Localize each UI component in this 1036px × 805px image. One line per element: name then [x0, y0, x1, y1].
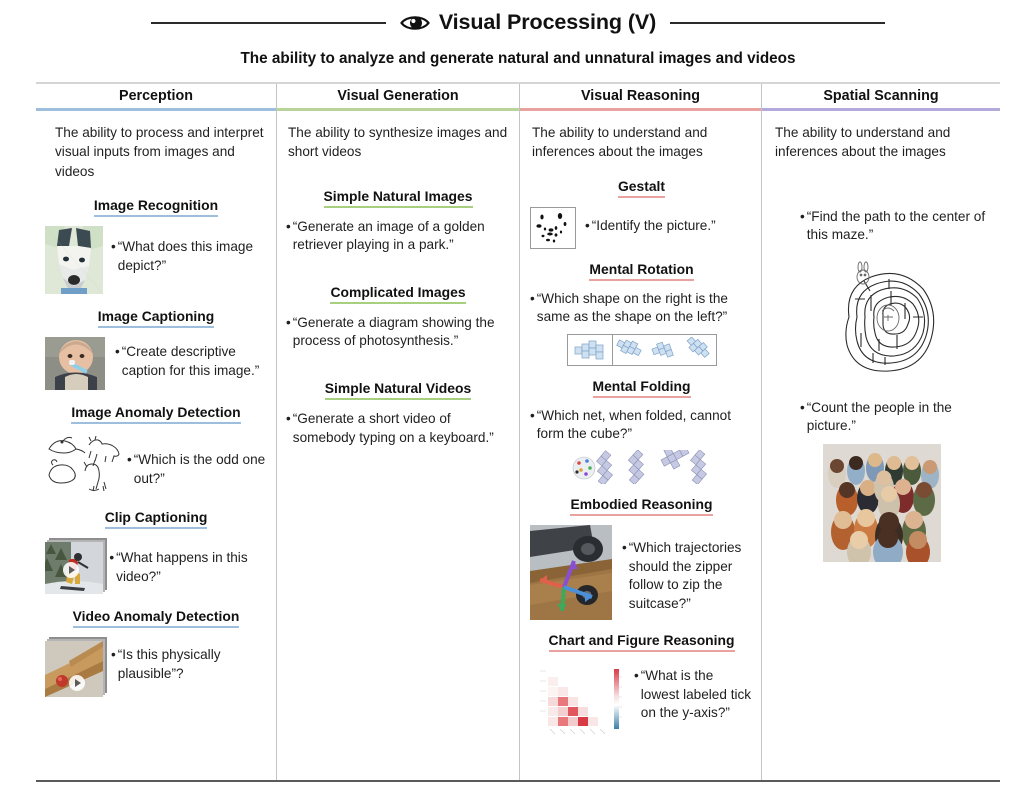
section-video-anomaly-detection: Video Anomaly Detection [45, 608, 267, 697]
section-mental-folding: Mental Folding • “Which net, when folded… [530, 378, 753, 484]
section-chart-and-figure-reasoning: Chart and Figure Reasoning [530, 632, 753, 739]
section-image-anomaly-detection: Image Anomaly Detection [45, 404, 267, 495]
snowboarder-video-thumbnail [45, 538, 97, 594]
section-count-people: • “Count the people in the picture.” [772, 399, 991, 562]
title-rule-left [151, 22, 386, 24]
section-complicated-images: Complicated Images • “Generate a diagram… [286, 284, 510, 351]
capability-table: Perception The ability to process and in… [36, 82, 1000, 782]
column-visual-reasoning: Visual Reasoning The ability to understa… [519, 84, 761, 780]
section-image-captioning: Image Captioning [45, 308, 267, 390]
bullet-marker: • [286, 314, 291, 333]
bullet-marker: • [109, 549, 114, 568]
example-prompt: “Count the people in the picture.” [807, 399, 991, 436]
bullet-marker: • [530, 407, 535, 426]
example-prompt: “Generate a short video of somebody typi… [293, 410, 510, 447]
dog-portrait-thumbnail [45, 226, 103, 294]
title-rule-right [670, 22, 885, 24]
column-description-visual-reasoning: The ability to understand and inferences… [532, 123, 753, 162]
column-description-perception: The ability to process and interpret vis… [55, 123, 267, 181]
example-prompt: “Which trajectories should the zipper fo… [629, 539, 753, 613]
example-prompt: “Generate an image of a golden retriever… [293, 218, 510, 255]
example-prompt: “What is the lowest labeled tick on the … [641, 667, 753, 723]
cube-nets-figure [567, 450, 717, 484]
example-prompt: “Create descriptive caption for this ima… [122, 343, 267, 380]
column-spatial-scanning: Spatial Scanning The ability to understa… [761, 84, 1000, 780]
page-title: Visual Processing (V) [439, 10, 656, 35]
section-maze-path: • “Find the path to the center of this m… [772, 208, 991, 375]
eye-icon [400, 13, 430, 33]
bullet-marker: • [634, 667, 639, 686]
bullet-marker: • [530, 290, 535, 309]
bullet-marker: • [111, 646, 116, 665]
section-title: Chart and Figure Reasoning [549, 632, 735, 652]
column-header-perception: Perception [36, 84, 276, 108]
correlation-heatmap-figure [530, 661, 630, 739]
ball-on-ramp-video-thumbnail [45, 637, 99, 697]
maze-with-rabbit-figure [827, 255, 937, 375]
table-bottom-rule [36, 780, 1000, 782]
title-row: Visual Processing (V) [0, 10, 1036, 35]
section-simple-natural-images: Simple Natural Images • “Generate an ima… [286, 188, 510, 255]
example-prompt: “Is this physically plausible”? [118, 646, 267, 683]
bullet-marker: • [127, 451, 132, 470]
section-mental-rotation: Mental Rotation • “Which shape on the ri… [530, 261, 753, 366]
group-of-people-photo [823, 444, 941, 562]
example-prompt: “What happens in this video?” [116, 549, 267, 586]
bullet-marker: • [111, 238, 116, 257]
section-embodied-reasoning: Embodied Reasoning [530, 496, 753, 620]
section-simple-natural-videos: Simple Natural Videos • “Generate a shor… [286, 380, 510, 447]
bullet-marker: • [622, 539, 627, 558]
column-header-spatial-scanning: Spatial Scanning [762, 84, 1000, 108]
example-prompt: “Which is the odd one out?” [134, 451, 267, 488]
baby-with-toothbrush-thumbnail [45, 337, 105, 390]
example-prompt: “Identify the picture.” [592, 217, 716, 236]
section-clip-captioning: Clip Captioning [45, 509, 267, 594]
animal-line-drawings-thumbnail [45, 433, 123, 495]
bullet-marker: • [585, 217, 590, 236]
column-header-visual-generation: Visual Generation [277, 84, 519, 108]
play-icon [69, 675, 85, 691]
section-title: Video Anomaly Detection [73, 608, 240, 628]
section-title: Gestalt [618, 178, 665, 198]
suitcase-zipper-trajectory-photo [530, 525, 612, 620]
bullet-marker: • [800, 399, 805, 418]
section-gestalt: Gestalt [530, 178, 753, 249]
example-prompt: “Find the path to the center of this maz… [807, 208, 991, 245]
page-subtitle: The ability to analyze and generate natu… [0, 50, 1036, 68]
play-icon [63, 562, 79, 578]
section-title: Simple Natural Videos [325, 380, 471, 400]
example-prompt: “Generate a diagram showing the process … [293, 314, 510, 351]
bullet-marker: • [286, 410, 291, 429]
bullet-marker: • [800, 208, 805, 227]
column-visual-generation: Visual Generation The ability to synthes… [276, 84, 519, 780]
section-title: Mental Folding [593, 378, 691, 398]
visual-processing-poster: Visual Processing (V) The ability to ana… [0, 0, 1036, 805]
section-title: Clip Captioning [105, 509, 208, 529]
section-title: Image Captioning [98, 308, 215, 328]
bullet-marker: • [115, 343, 120, 362]
section-image-recognition: Image Recognition [45, 197, 267, 294]
section-title: Image Anomaly Detection [71, 404, 240, 424]
section-title: Complicated Images [330, 284, 465, 304]
mental-rotation-blocks-figure [567, 334, 717, 366]
gestalt-dalmatian-figure [530, 207, 576, 249]
column-header-visual-reasoning: Visual Reasoning [520, 84, 761, 108]
title-block: Visual Processing (V) [400, 10, 656, 35]
example-prompt: “Which shape on the right is the same as… [537, 290, 753, 327]
bullet-marker: • [286, 218, 291, 237]
column-perception: Perception The ability to process and in… [36, 84, 276, 780]
section-title: Image Recognition [94, 197, 218, 217]
column-description-spatial-scanning: The ability to understand and inferences… [775, 123, 991, 162]
section-title: Mental Rotation [589, 261, 693, 281]
example-prompt: “Which net, when folded, cannot form the… [537, 407, 753, 444]
section-title: Embodied Reasoning [570, 496, 712, 516]
section-title: Simple Natural Images [324, 188, 473, 208]
example-prompt: “What does this image depict?” [118, 238, 267, 275]
column-description-visual-generation: The ability to synthesize images and sho… [288, 123, 510, 162]
